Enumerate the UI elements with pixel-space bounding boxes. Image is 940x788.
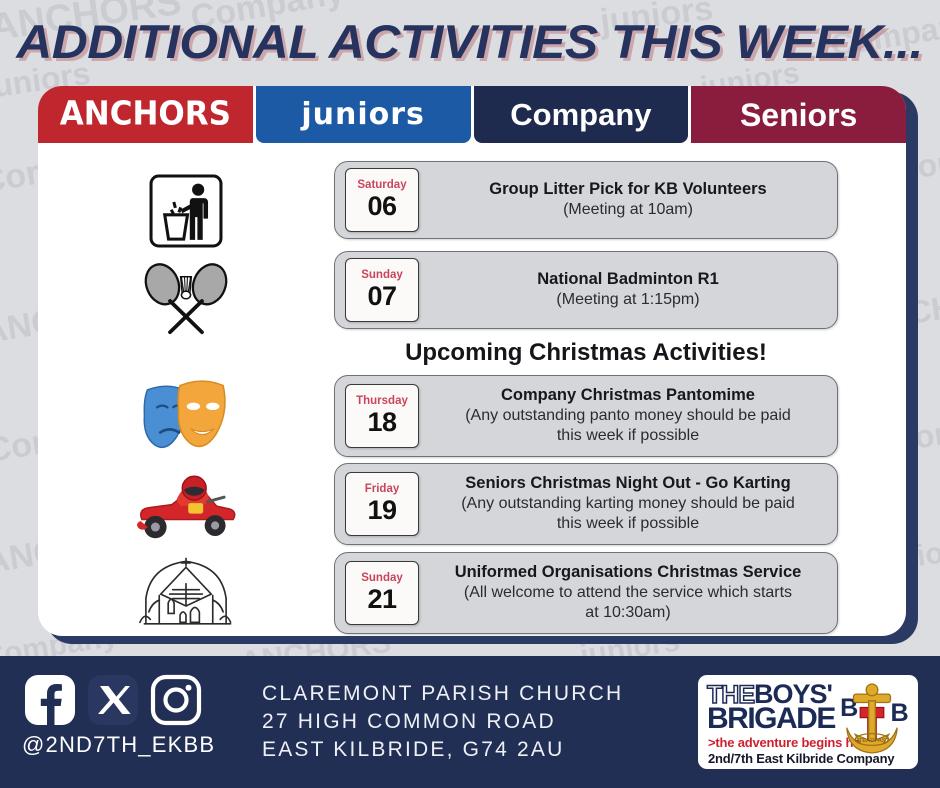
logo-brigade: BRIGADE xyxy=(707,704,835,734)
date-number: 19 xyxy=(367,497,396,524)
tab-company-label: Company xyxy=(510,99,651,130)
card-body: Saturday 06 Group Litter Pick for KB Vol… xyxy=(38,143,906,636)
address-line-2: 27 HIGH COMMON ROAD xyxy=(262,708,623,736)
date-badge: Saturday 06 xyxy=(345,168,419,232)
date-number: 18 xyxy=(367,409,396,436)
date-day-of-week: Friday xyxy=(365,484,400,496)
date-badge: Friday 19 xyxy=(345,472,419,536)
address-line-1: CLAREMONT PARISH CHURCH xyxy=(262,680,623,708)
tab-company[interactable]: Company xyxy=(474,86,689,143)
tab-seniors[interactable]: Seniors xyxy=(691,86,906,143)
date-badge: Sunday 21 xyxy=(345,561,419,625)
boys-brigade-logo: THE BOYS' BRIGADE >the adventure begins … xyxy=(698,675,918,769)
date-badge: Thursday 18 xyxy=(345,384,419,448)
facebook-icon[interactable] xyxy=(24,674,76,726)
tab-juniors[interactable]: juniors xyxy=(256,86,471,143)
event-title: Uniformed Organisations Christmas Servic… xyxy=(429,562,827,583)
date-day-of-week: Saturday xyxy=(357,180,406,192)
event-text: Company Christmas Pantomime (Any outstan… xyxy=(427,385,837,447)
event-row[interactable]: Sunday 07 National Badminton R1 (Meeting… xyxy=(334,251,838,329)
event-row[interactable]: Saturday 06 Group Litter Pick for KB Vol… xyxy=(334,161,838,239)
date-number: 07 xyxy=(367,283,396,310)
badminton-rackets-icon xyxy=(38,255,334,341)
x-twitter-icon[interactable] xyxy=(87,674,139,726)
event-text: National Badminton R1 (Meeting at 1:15pm… xyxy=(427,269,837,310)
tab-anchors-label: ANCHORS xyxy=(60,98,231,131)
date-number: 21 xyxy=(367,586,396,613)
event-title: Seniors Christmas Night Out - Go Karting xyxy=(429,473,827,494)
date-badge: Sunday 07 xyxy=(345,258,419,322)
poster-title-container: ADDITIONAL ACTIVITIES THIS WEEK... xyxy=(0,14,940,84)
event-title: Company Christmas Pantomime xyxy=(429,385,827,406)
address-line-3: EAST KILBRIDE, G74 2AU xyxy=(262,736,623,764)
instagram-icon[interactable] xyxy=(150,674,202,726)
social-handle: @2ND7TH_EKBB xyxy=(22,732,215,758)
date-day-of-week: Sunday xyxy=(361,270,403,282)
event-text: Group Litter Pick for KB Volunteers (Mee… xyxy=(427,179,837,220)
date-day-of-week: Sunday xyxy=(361,573,403,585)
footer: @2ND7TH_EKBB CLAREMONT PARISH CHURCH 27 … xyxy=(0,656,940,788)
litter-pick-icon xyxy=(38,165,334,257)
address-block: CLAREMONT PARISH CHURCH 27 HIGH COMMON R… xyxy=(262,680,623,764)
page-title: ADDITIONAL ACTIVITIES THIS WEEK... xyxy=(17,14,923,69)
event-subtitle: (Meeting at 1:15pm) xyxy=(429,290,827,311)
svg-text:STEADFAST: STEADFAST xyxy=(855,738,890,744)
activities-card: ANCHORS juniors Company Seniors xyxy=(38,86,906,636)
event-row[interactable]: Sunday 21 Uniformed Organisations Christ… xyxy=(334,552,838,634)
svg-text:B: B xyxy=(890,699,908,727)
event-subtitle: (Any outstanding panto money should be p… xyxy=(429,406,827,427)
tab-juniors-label: juniors xyxy=(301,100,425,130)
date-day-of-week: Thursday xyxy=(356,396,408,408)
go-kart-icon xyxy=(38,458,334,552)
section-tabs: ANCHORS juniors Company Seniors xyxy=(38,86,906,143)
event-subtitle: (Meeting at 10am) xyxy=(429,200,827,221)
section-heading: Upcoming Christmas Activities! xyxy=(334,339,838,367)
event-row[interactable]: Friday 19 Seniors Christmas Night Out - … xyxy=(334,463,838,545)
event-text: Seniors Christmas Night Out - Go Karting… xyxy=(427,473,837,535)
event-title: Group Litter Pick for KB Volunteers xyxy=(429,179,827,200)
church-icon xyxy=(38,551,334,635)
event-subtitle-line2: at 10:30am) xyxy=(429,603,827,624)
date-number: 06 xyxy=(367,193,396,220)
anchor-emblem-icon: B B STEADFAST xyxy=(830,679,914,763)
event-subtitle-line2: this week if possible xyxy=(429,426,827,447)
tab-seniors-label: Seniors xyxy=(740,99,857,131)
event-row[interactable]: Thursday 18 Company Christmas Pantomime … xyxy=(334,375,838,457)
event-text: Uniformed Organisations Christmas Servic… xyxy=(427,562,837,624)
event-subtitle: (All welcome to attend the service which… xyxy=(429,583,827,604)
theatre-masks-icon xyxy=(38,368,334,464)
event-subtitle: (Any outstanding karting money should be… xyxy=(429,494,827,515)
event-subtitle-line2: this week if possible xyxy=(429,514,827,535)
social-links xyxy=(24,674,202,726)
tab-anchors[interactable]: ANCHORS xyxy=(38,86,253,143)
event-title: National Badminton R1 xyxy=(429,269,827,290)
